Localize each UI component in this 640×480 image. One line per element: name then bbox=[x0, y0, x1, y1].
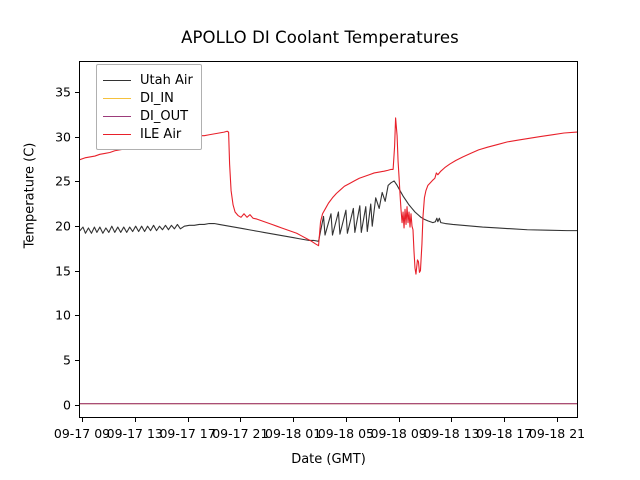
x-tick-mark bbox=[188, 418, 189, 422]
x-tick-mark bbox=[82, 418, 83, 422]
x-tick-label: 09-17 09 bbox=[54, 426, 110, 441]
y-tick-label: 5 bbox=[30, 352, 71, 367]
legend-item-ile-air[interactable]: ILE Air bbox=[103, 125, 193, 143]
legend-label: DI_OUT bbox=[140, 109, 188, 124]
x-tick-mark bbox=[240, 418, 241, 422]
y-tick-label: 15 bbox=[30, 263, 71, 278]
y-tick-label: 0 bbox=[30, 397, 71, 412]
x-tick-label: 09-18 17 bbox=[476, 426, 532, 441]
x-tick-mark bbox=[399, 418, 400, 422]
y-tick-label: 10 bbox=[30, 308, 71, 323]
x-tick-label: 09-18 01 bbox=[265, 426, 321, 441]
x-tick-mark bbox=[504, 418, 505, 422]
legend-label: DI_IN bbox=[140, 91, 174, 106]
chart-title: APOLLO DI Coolant Temperatures bbox=[0, 28, 640, 47]
legend-swatch-icon bbox=[103, 134, 131, 135]
x-tick-label: 09-18 13 bbox=[423, 426, 479, 441]
x-tick-mark bbox=[293, 418, 294, 422]
y-tick-label: 20 bbox=[30, 219, 71, 234]
x-tick-label: 09-18 05 bbox=[318, 426, 374, 441]
chart-figure: APOLLO DI Coolant Temperatures Temperatu… bbox=[0, 0, 640, 480]
x-tick-label: 09-17 13 bbox=[107, 426, 163, 441]
legend-swatch-icon bbox=[103, 116, 131, 117]
legend-item-utah-air[interactable]: Utah Air bbox=[103, 71, 193, 89]
legend-item-di-in[interactable]: DI_IN bbox=[103, 89, 193, 107]
legend-swatch-icon bbox=[103, 98, 131, 99]
legend-item-di-out[interactable]: DI_OUT bbox=[103, 107, 193, 125]
x-tick-label: 09-17 21 bbox=[212, 426, 268, 441]
x-tick-label: 09-18 21 bbox=[529, 426, 585, 441]
y-tick-label: 25 bbox=[30, 174, 71, 189]
chart-legend[interactable]: Utah AirDI_INDI_OUTILE Air bbox=[96, 64, 202, 150]
y-tick-label: 35 bbox=[30, 85, 71, 100]
series-line bbox=[80, 181, 577, 241]
x-tick-mark bbox=[451, 418, 452, 422]
legend-swatch-icon bbox=[103, 80, 131, 81]
x-tick-label: 09-18 09 bbox=[371, 426, 427, 441]
x-tick-mark bbox=[557, 418, 558, 422]
x-axis-label: Date (GMT) bbox=[79, 452, 578, 467]
legend-label: ILE Air bbox=[140, 127, 181, 142]
legend-label: Utah Air bbox=[140, 73, 193, 88]
x-tick-label: 09-17 17 bbox=[159, 426, 215, 441]
y-tick-label: 30 bbox=[30, 129, 71, 144]
x-tick-mark bbox=[346, 418, 347, 422]
x-tick-mark bbox=[135, 418, 136, 422]
